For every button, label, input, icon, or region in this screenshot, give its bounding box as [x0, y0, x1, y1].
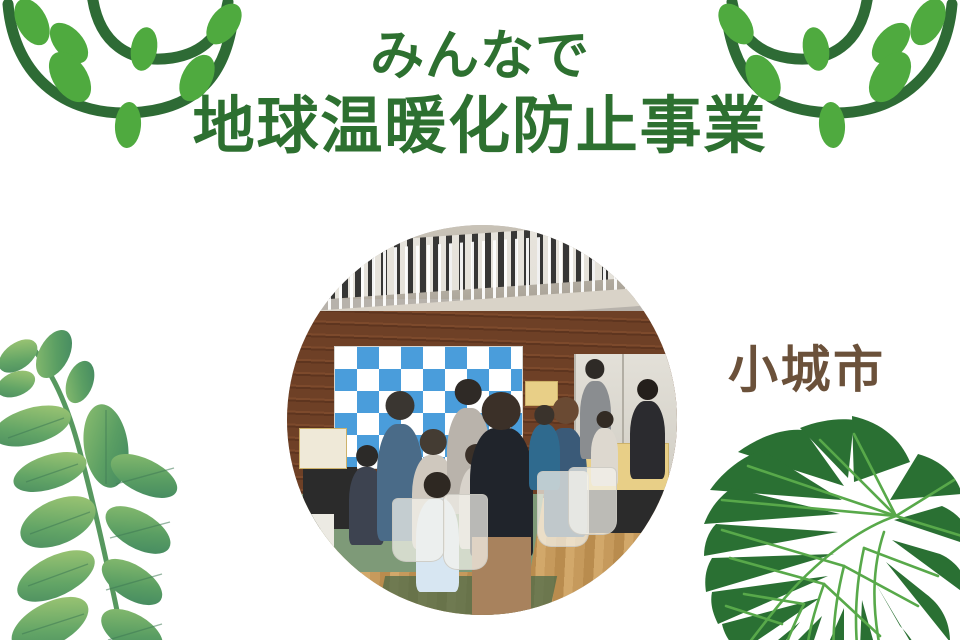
plastic-bag [443, 494, 488, 570]
person-figure [630, 401, 665, 479]
photo-scene [287, 225, 677, 615]
title-line-2: 地球温暖化防止事業 [0, 92, 960, 161]
watercolor-branch-icon [0, 326, 242, 640]
white-bin-left [299, 514, 334, 561]
yellow-sign-backwall [525, 381, 558, 406]
title-line-1: みんなで [0, 26, 960, 86]
plastic-bag [568, 467, 617, 535]
city-name-label: 小城市 [728, 330, 886, 402]
monstera-leaf-icon [704, 408, 960, 640]
poster-left [299, 428, 348, 469]
poster-title: みんなで 地球温暖化防止事業 [0, 26, 960, 162]
plastic-bag [392, 498, 445, 562]
poster-canvas: みんなで 地球温暖化防止事業 小城市 [0, 0, 960, 640]
community-event-photo [287, 225, 677, 615]
